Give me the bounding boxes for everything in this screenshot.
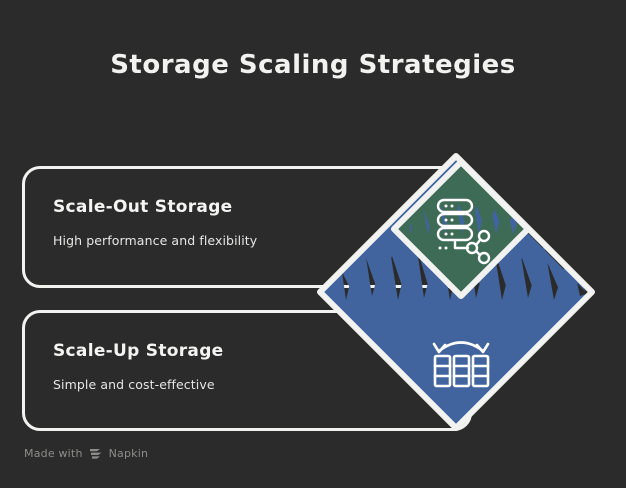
card-scale-out-title: Scale-Out Storage — [53, 197, 233, 217]
card-scale-out-description: High performance and flexibility — [53, 233, 257, 248]
card-scale-up-description: Simple and cost-effective — [53, 377, 215, 392]
made-with-label: Made with — [24, 447, 83, 460]
page-title: Storage Scaling Strategies — [0, 50, 626, 80]
footer-credit[interactable]: Made with Napkin — [24, 447, 148, 460]
napkin-chevron-logo — [89, 448, 103, 460]
slide-canvas: Storage Scaling Strategies Scale-Out Sto… — [0, 0, 626, 488]
napkin-brand-label: Napkin — [109, 447, 149, 460]
card-scale-up-title: Scale-Up Storage — [53, 341, 224, 361]
